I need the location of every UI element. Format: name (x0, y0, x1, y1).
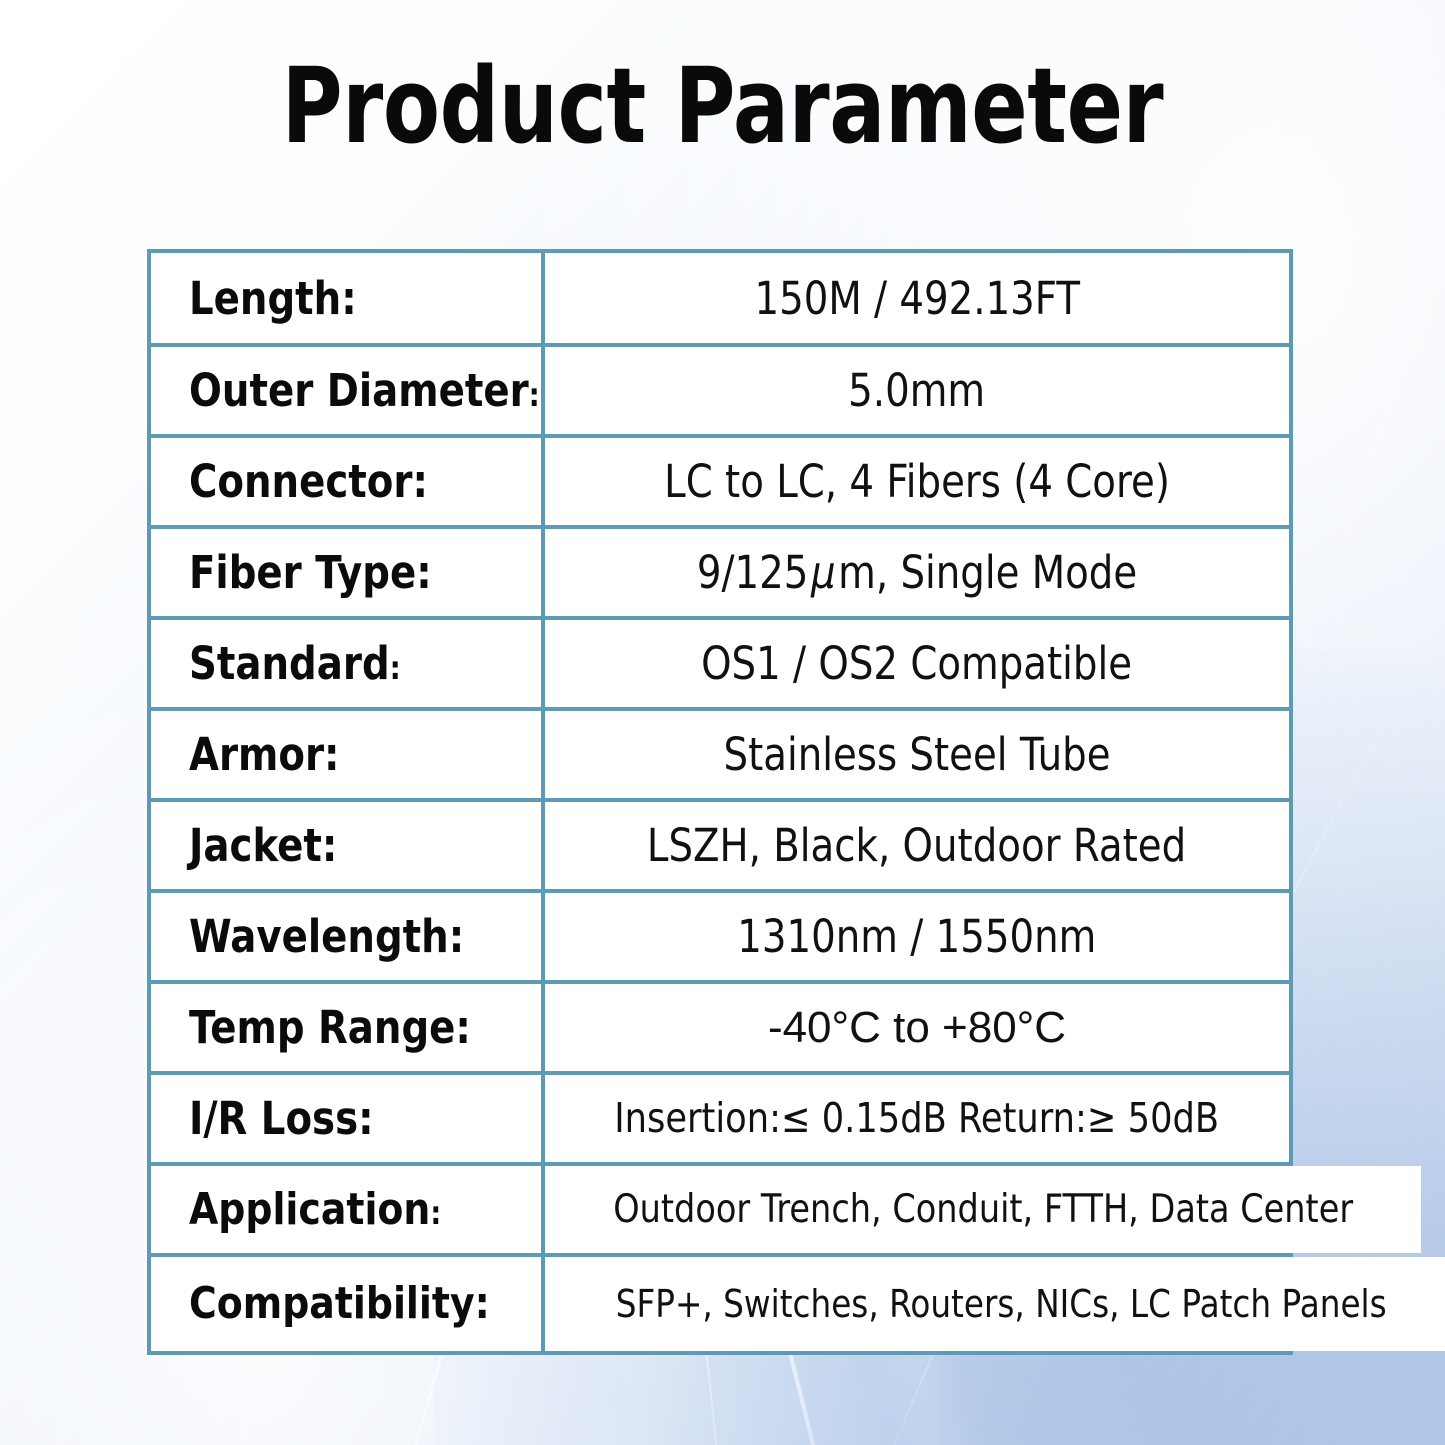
value-standard: OS1 / OS2 Compatible (702, 641, 1133, 686)
product-parameter-infographic: Product Parameter Length: 150M / 492.13F… (0, 0, 1445, 1445)
cell-label-armor: Armor: (151, 711, 545, 798)
table-row-wavelength: Wavelength: 1310nm / 1550nm (151, 893, 1289, 984)
value-connector: LC to LC, 4 Fibers (4 Core) (664, 459, 1170, 504)
cell-label-standard: Standard: (151, 620, 545, 707)
cell-label-outer-diameter: Outer Diameter: (151, 347, 545, 434)
micro-symbol: μ (808, 546, 838, 599)
table-row-length: Length: 150M / 492.13FT (151, 253, 1289, 347)
label-length: Length: (189, 276, 357, 321)
cell-value-standard: OS1 / OS2 Compatible (545, 620, 1289, 707)
label-outer-diameter-text: Outer Diameter (189, 364, 529, 417)
label-outer-diameter-colon: : (529, 376, 540, 414)
value-fiber-type: 9/125μm, Single Mode (697, 550, 1137, 595)
value-armor: Stainless Steel Tube (724, 732, 1111, 777)
table-row-jacket: Jacket: LSZH, Black, Outdoor Rated (151, 802, 1289, 893)
value-wavelength: 1310nm / 1550nm (737, 914, 1096, 959)
label-standard: Standard: (189, 641, 401, 686)
cell-label-application: Application: (151, 1166, 545, 1253)
cell-value-armor: Stainless Steel Tube (545, 711, 1289, 798)
label-application: Application: (189, 1188, 441, 1232)
cell-value-temp-range: -40°C to +80°C (545, 984, 1289, 1071)
cell-value-compatibility: SFP+, Switches, Routers, NICs, LC Patch … (545, 1257, 1445, 1351)
cell-label-connector: Connector: (151, 438, 545, 525)
cell-label-fiber-type: Fiber Type: (151, 529, 545, 616)
label-compatibility: Compatibility: (189, 1282, 490, 1326)
label-application-text: Application (189, 1184, 430, 1235)
cell-label-temp-range: Temp Range: (151, 984, 545, 1071)
table-row-application: Application: Outdoor Trench, Conduit, FT… (151, 1166, 1289, 1257)
table-row-standard: Standard: OS1 / OS2 Compatible (151, 620, 1289, 711)
value-fiber-type-post: m, Single Mode (838, 546, 1137, 599)
value-compatibility: SFP+, Switches, Routers, NICs, LC Patch … (616, 1285, 1387, 1323)
label-armor: Armor: (189, 732, 340, 777)
page-title: Product Parameter (145, 52, 1301, 161)
value-temp-range: -40°C to +80°C (768, 1006, 1066, 1050)
value-length: 150M / 492.13FT (754, 276, 1080, 321)
cell-label-compatibility: Compatibility: (151, 1257, 545, 1351)
cell-value-application: Outdoor Trench, Conduit, FTTH, Data Cent… (545, 1166, 1421, 1253)
value-jacket: LSZH, Black, Outdoor Rated (647, 823, 1186, 868)
label-ir-loss: I/R Loss: (189, 1096, 374, 1141)
cell-value-length: 150M / 492.13FT (545, 253, 1289, 343)
label-connector: Connector: (189, 459, 428, 504)
label-application-colon: : (430, 1196, 441, 1232)
cell-value-jacket: LSZH, Black, Outdoor Rated (545, 802, 1289, 889)
table-row-ir-loss: I/R Loss: Insertion:≤ 0.15dB Return:≥ 50… (151, 1075, 1289, 1166)
label-jacket: Jacket: (189, 823, 337, 868)
table-row-compatibility: Compatibility: SFP+, Switches, Routers, … (151, 1257, 1289, 1351)
label-temp-range: Temp Range: (189, 1005, 471, 1050)
value-outer-diameter: 5.0mm (849, 368, 986, 413)
product-parameter-table: Length: 150M / 492.13FT Outer Diameter: … (147, 249, 1293, 1355)
cell-label-ir-loss: I/R Loss: (151, 1075, 545, 1162)
cell-label-length: Length: (151, 253, 545, 343)
cell-value-outer-diameter: 5.0mm (545, 347, 1289, 434)
table-row-outer-diameter: Outer Diameter: 5.0mm (151, 347, 1289, 438)
table-row-connector: Connector: LC to LC, 4 Fibers (4 Core) (151, 438, 1289, 529)
cell-label-jacket: Jacket: (151, 802, 545, 889)
label-outer-diameter: Outer Diameter: (189, 368, 540, 413)
label-standard-text: Standard (189, 637, 390, 690)
cell-label-wavelength: Wavelength: (151, 893, 545, 980)
table-row-armor: Armor: Stainless Steel Tube (151, 711, 1289, 802)
value-fiber-type-pre: 9/125 (697, 546, 809, 599)
label-wavelength: Wavelength: (189, 914, 464, 959)
cell-value-fiber-type: 9/125μm, Single Mode (545, 529, 1289, 616)
cell-value-connector: LC to LC, 4 Fibers (4 Core) (545, 438, 1289, 525)
table-row-temp-range: Temp Range: -40°C to +80°C (151, 984, 1289, 1075)
label-standard-colon: : (390, 649, 401, 687)
label-fiber-type: Fiber Type: (189, 550, 432, 595)
value-application: Outdoor Trench, Conduit, FTTH, Data Cent… (613, 1190, 1353, 1229)
value-ir-loss: Insertion:≤ 0.15dB Return:≥ 50dB (615, 1098, 1220, 1139)
cell-value-ir-loss: Insertion:≤ 0.15dB Return:≥ 50dB (545, 1075, 1289, 1162)
table-row-fiber-type: Fiber Type: 9/125μm, Single Mode (151, 529, 1289, 620)
cell-value-wavelength: 1310nm / 1550nm (545, 893, 1289, 980)
